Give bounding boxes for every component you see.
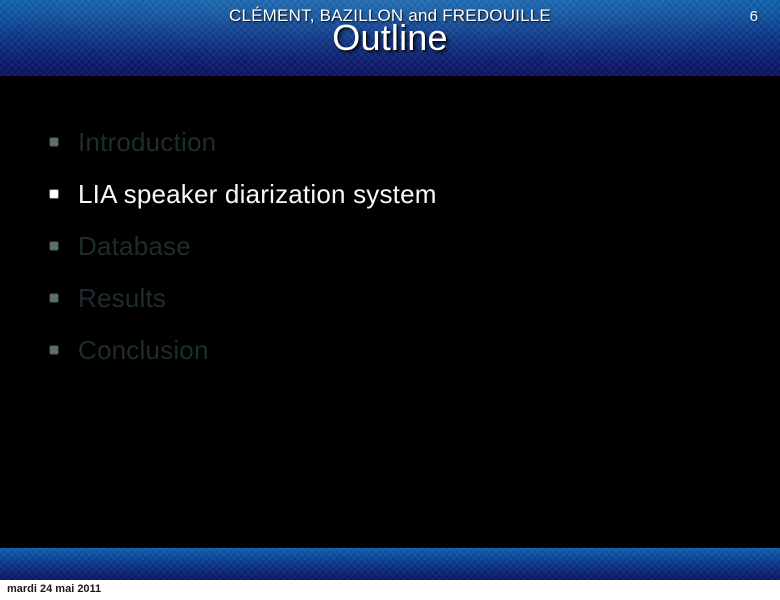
outline-item-lia-speaker-diarization-system[interactable]: LIA speaker diarization system <box>44 168 744 220</box>
slide-page-number: 6 <box>750 0 758 32</box>
presentation-date: mardi 24 mai 2011 <box>7 583 101 595</box>
presentation-slide: Outline Introduction LIA speaker diariza… <box>0 0 780 600</box>
outline-item-label: Database <box>78 233 191 259</box>
outline-list: Introduction LIA speaker diarization sys… <box>44 116 744 376</box>
footer-texture-overlay <box>0 548 780 580</box>
square-bullet-icon <box>50 242 58 250</box>
outline-item-conclusion[interactable]: Conclusion <box>44 324 744 376</box>
slide-footer-bar <box>0 548 780 580</box>
square-bullet-icon <box>50 190 58 198</box>
square-bullet-icon <box>50 138 58 146</box>
outline-item-label: Results <box>78 285 166 311</box>
outline-item-introduction[interactable]: Introduction <box>44 116 744 168</box>
bottom-strip: mardi 24 mai 2011 <box>0 580 780 600</box>
outline-item-database[interactable]: Database <box>44 220 744 272</box>
square-bullet-icon <box>50 346 58 354</box>
outline-item-label: LIA speaker diarization system <box>78 181 437 207</box>
square-bullet-icon <box>50 294 58 302</box>
footer-authors: CLÉMENT, BAZILLON and FREDOUILLE <box>0 0 780 32</box>
outline-item-label: Conclusion <box>78 337 209 363</box>
outline-item-results[interactable]: Results <box>44 272 744 324</box>
outline-item-label: Introduction <box>78 129 216 155</box>
